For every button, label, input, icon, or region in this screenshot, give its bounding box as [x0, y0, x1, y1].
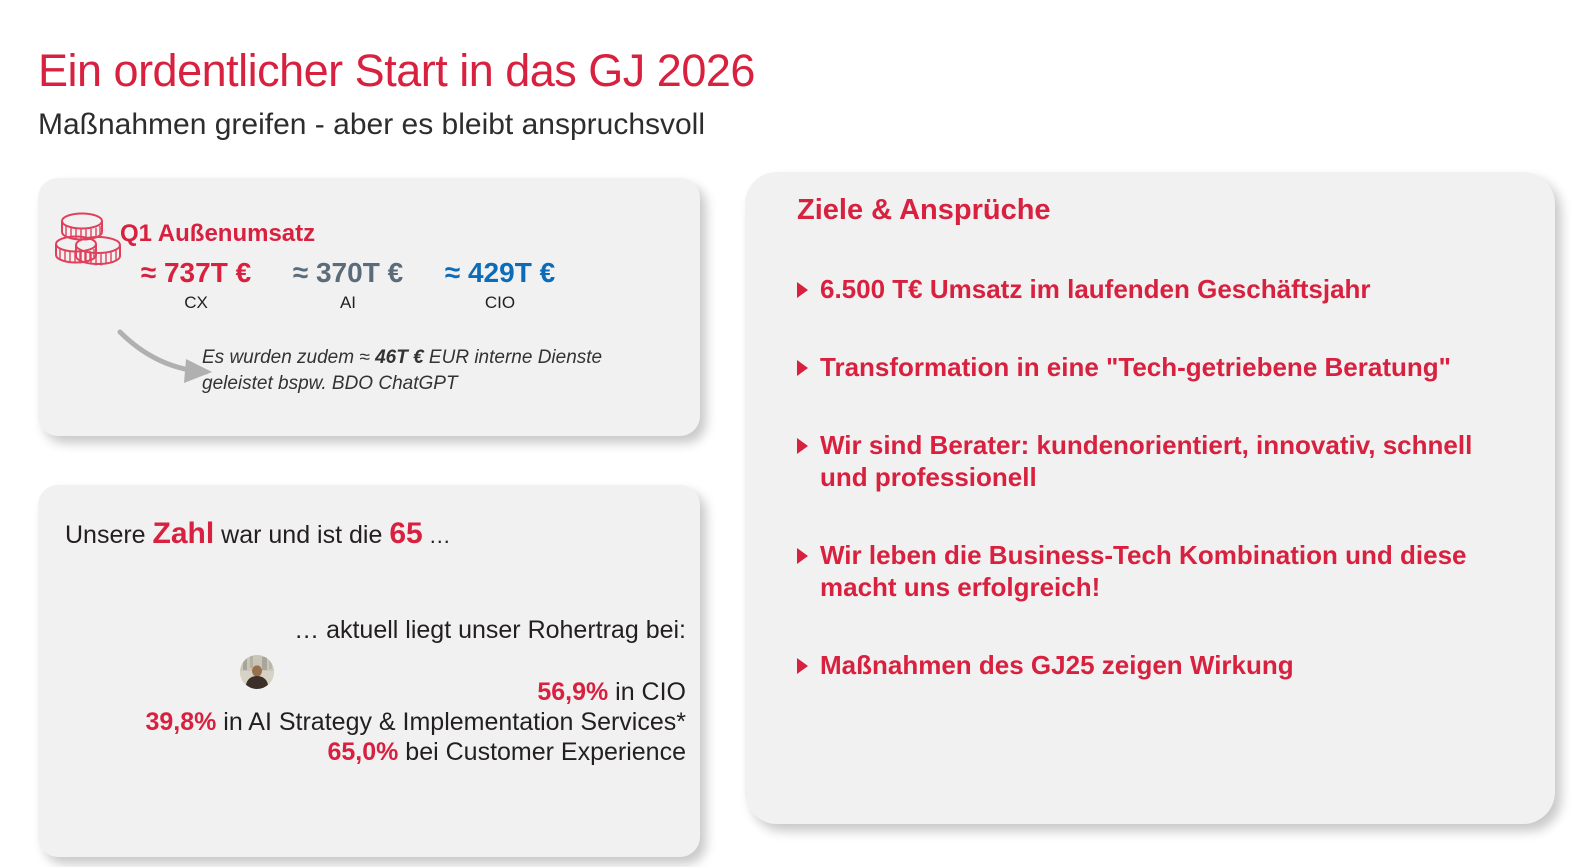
goals-list: 6.500 T€ Umsatz im laufenden Geschäftsja…	[797, 273, 1527, 681]
margin-figure-cx: 65,0% bei Customer Experience	[145, 737, 686, 767]
kpi-cio-value: ≈ 429T €	[424, 256, 576, 290]
goal-item-5-label: Maßnahmen des GJ25 zeigen Wirkung	[820, 649, 1294, 681]
revenue-heading: Q1 Außenumsatz	[120, 220, 315, 248]
kpi-ai-value: ≈ 370T €	[272, 256, 424, 290]
kpi-row: ≈ 737T € CX ≈ 370T € AI ≈ 429T € CIO	[120, 256, 620, 316]
margin-figure-ai-text: in AI Strategy & Implementation Services…	[216, 708, 686, 736]
page-subtitle: Maßnahmen greifen - aber es bleibt anspr…	[38, 108, 705, 142]
goal-item-5: Maßnahmen des GJ25 zeigen Wirkung	[797, 649, 1527, 681]
kpi-cx-value: ≈ 737T €	[120, 256, 272, 290]
goal-item-3: Wir sind Berater: kundenorientiert, inno…	[797, 429, 1527, 493]
kpi-cio: ≈ 429T € CIO	[424, 256, 576, 316]
kpi-cx-label: CX	[120, 290, 272, 316]
margin-figure-cio-text: in CIO	[608, 678, 686, 706]
margin-figure-cx-text: bei Customer Experience	[398, 738, 686, 766]
margin-lead-text: … aktuell liegt unser Rohertrag bei:	[294, 616, 686, 645]
revenue-note-amount: 46T €	[375, 347, 424, 368]
triangle-bullet-icon	[797, 282, 808, 298]
goal-item-1: 6.500 T€ Umsatz im laufenden Geschäftsja…	[797, 273, 1527, 305]
margin-figures: 56,9% in CIO 39,8% in AI Strategy & Impl…	[145, 677, 686, 767]
kpi-ai-label: AI	[272, 290, 424, 316]
margin-headline-part1: Unsere	[65, 521, 153, 549]
margin-headline-highlight-65: 65	[389, 517, 422, 550]
goal-item-2: Transformation in eine "Tech-getriebene …	[797, 351, 1527, 383]
triangle-bullet-icon	[797, 360, 808, 376]
margin-headline-highlight-zahl: Zahl	[153, 517, 215, 550]
revenue-note: Es wurden zudem ≈ 46T € EUR interne Dien…	[202, 345, 672, 397]
triangle-bullet-icon	[797, 438, 808, 454]
margin-card: Unsere Zahl war und ist die 65 … … aktue…	[38, 485, 700, 857]
goal-item-4-label: Wir leben die Business-Tech Kombination …	[820, 539, 1527, 603]
margin-figure-ai-pct: 39,8%	[145, 708, 216, 736]
margin-headline: Unsere Zahl war und ist die 65 …	[65, 517, 451, 551]
kpi-cx: ≈ 737T € CX	[120, 256, 272, 316]
revenue-note-prefix: Es wurden zudem ≈	[202, 347, 375, 368]
page-title: Ein ordentlicher Start in das GJ 2026	[38, 45, 755, 97]
triangle-bullet-icon	[797, 548, 808, 564]
revenue-card: Q1 Außenumsatz ≈ 737T € CX ≈ 370T € AI ≈…	[38, 178, 700, 436]
kpi-ai: ≈ 370T € AI	[272, 256, 424, 316]
goals-card: Ziele & Ansprüche 6.500 T€ Umsatz im lau…	[745, 172, 1555, 824]
margin-figure-ai: 39,8% in AI Strategy & Implementation Se…	[145, 707, 686, 737]
triangle-bullet-icon	[797, 658, 808, 674]
margin-figure-cio-pct: 56,9%	[537, 678, 608, 706]
goals-heading: Ziele & Ansprüche	[797, 194, 1051, 227]
goal-item-4: Wir leben die Business-Tech Kombination …	[797, 539, 1527, 603]
goal-item-1-label: 6.500 T€ Umsatz im laufenden Geschäftsja…	[820, 273, 1371, 305]
margin-figure-cx-pct: 65,0%	[327, 738, 398, 766]
goal-item-3-label: Wir sind Berater: kundenorientiert, inno…	[820, 429, 1527, 493]
goal-item-2-label: Transformation in eine "Tech-getriebene …	[820, 351, 1451, 383]
kpi-cio-label: CIO	[424, 290, 576, 316]
margin-figure-cio: 56,9% in CIO	[145, 677, 686, 707]
coin-stack-icon	[52, 208, 124, 270]
margin-headline-part2: war und ist die	[214, 521, 389, 549]
margin-headline-ellipsis: …	[423, 523, 451, 548]
